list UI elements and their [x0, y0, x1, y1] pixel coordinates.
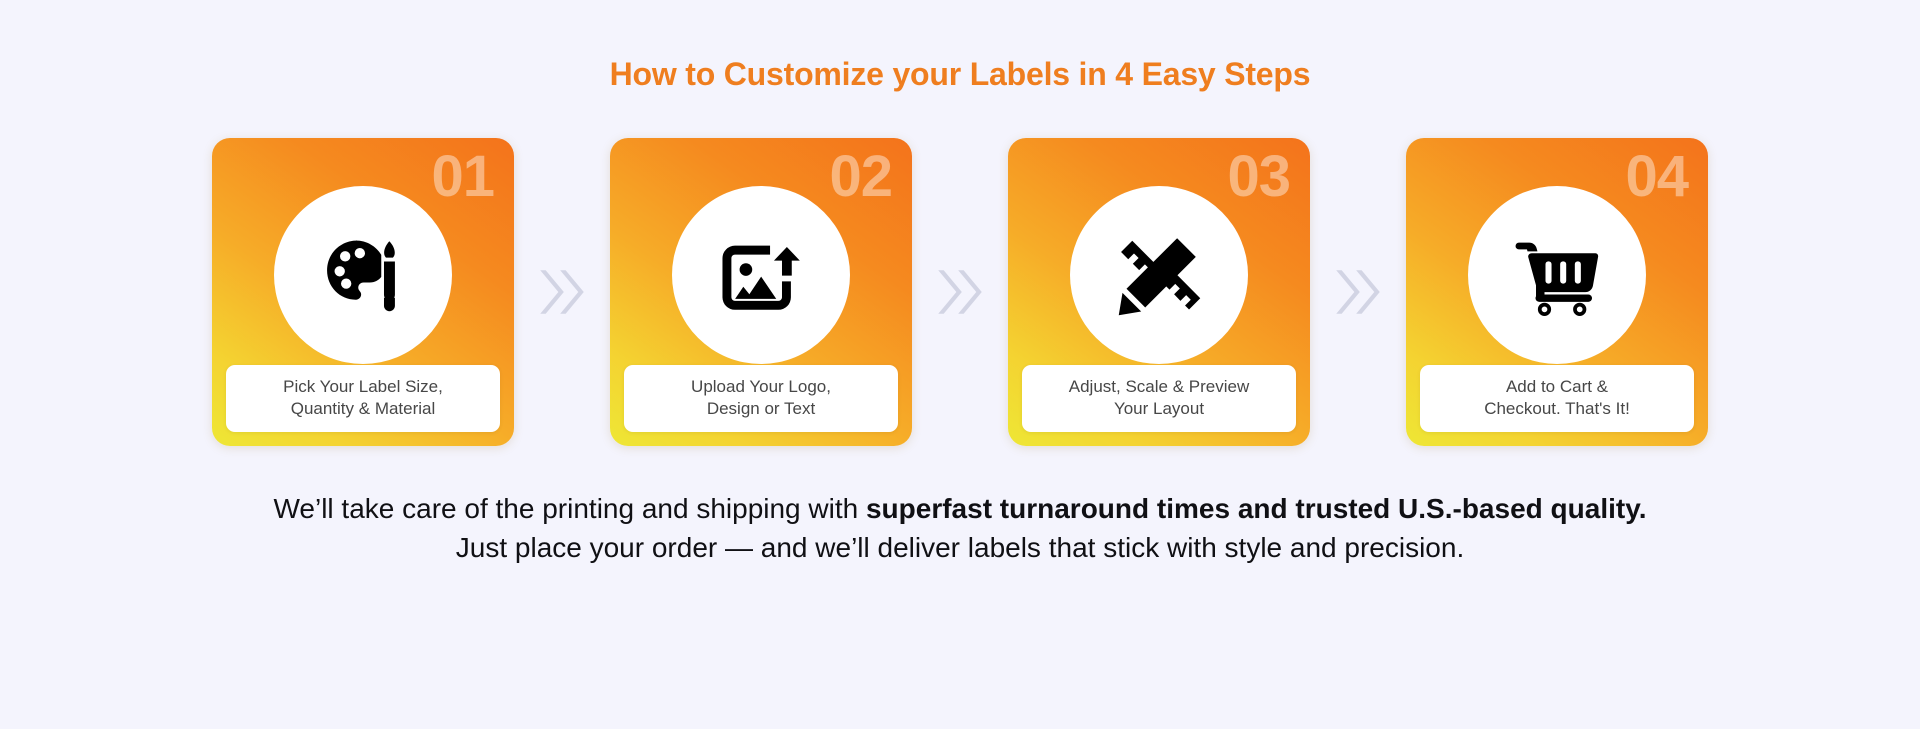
shopping-cart-icon	[1511, 229, 1603, 321]
palette-brush-icon	[317, 229, 409, 321]
footer-line-1: We’ll take care of the printing and ship…	[245, 490, 1675, 527]
step-label-1: Pick Your Label Size, Quantity & Materia…	[226, 365, 500, 432]
step-separator-3	[1310, 263, 1406, 321]
step-card-2[interactable]: 02 Upload Your Logo, Design or Text	[610, 138, 912, 446]
step-label-1-line1: Pick Your Label Size,	[234, 376, 492, 398]
step-number-2: 02	[829, 148, 892, 206]
step-label-2-line1: Upload Your Logo,	[632, 376, 890, 398]
footer-copy: We’ll take care of the printing and ship…	[245, 490, 1675, 566]
footer-line-1-bold: superfast turnaround times and trusted U…	[866, 493, 1647, 524]
step-separator-2	[912, 263, 1008, 321]
double-chevron-right-icon	[1330, 263, 1386, 321]
step-icon-circle-1	[274, 186, 452, 364]
step-icon-circle-2	[672, 186, 850, 364]
step-icon-circle-4	[1468, 186, 1646, 364]
step-card-4[interactable]: 04 Add to Cart	[1406, 138, 1708, 446]
double-chevron-right-icon	[932, 263, 988, 321]
step-card-3[interactable]: 03 Adjust, Scale &	[1008, 138, 1310, 446]
image-upload-icon	[715, 229, 807, 321]
section-heading: How to Customize your Labels in 4 Easy S…	[610, 56, 1311, 93]
step-number-4: 04	[1625, 148, 1688, 206]
step-card-1[interactable]: 01 Pick Your Label Size, Quantity & Mate…	[212, 138, 514, 446]
step-number-3: 03	[1227, 148, 1290, 206]
step-label-4: Add to Cart & Checkout. That's It!	[1420, 365, 1694, 432]
step-separator-1	[514, 263, 610, 321]
step-label-2: Upload Your Logo, Design or Text	[624, 365, 898, 432]
pencil-ruler-icon	[1113, 229, 1205, 321]
steps-row: 01 Pick Your Label Size, Quantity & Mate…	[212, 138, 1708, 446]
double-chevron-right-icon	[534, 263, 590, 321]
step-number-1: 01	[431, 148, 494, 206]
how-it-works-section: How to Customize your Labels in 4 Easy S…	[0, 0, 1920, 729]
step-label-3-line2: Your Layout	[1030, 398, 1288, 420]
footer-line-1-prefix: We’ll take care of the printing and ship…	[274, 493, 866, 524]
step-icon-circle-3	[1070, 186, 1248, 364]
step-label-3: Adjust, Scale & Preview Your Layout	[1022, 365, 1296, 432]
footer-line-2: Just place your order — and we’ll delive…	[245, 529, 1675, 566]
step-label-1-line2: Quantity & Material	[234, 398, 492, 420]
step-label-2-line2: Design or Text	[632, 398, 890, 420]
step-label-4-line2: Checkout. That's It!	[1428, 398, 1686, 420]
step-label-4-line1: Add to Cart &	[1428, 376, 1686, 398]
step-label-3-line1: Adjust, Scale & Preview	[1030, 376, 1288, 398]
